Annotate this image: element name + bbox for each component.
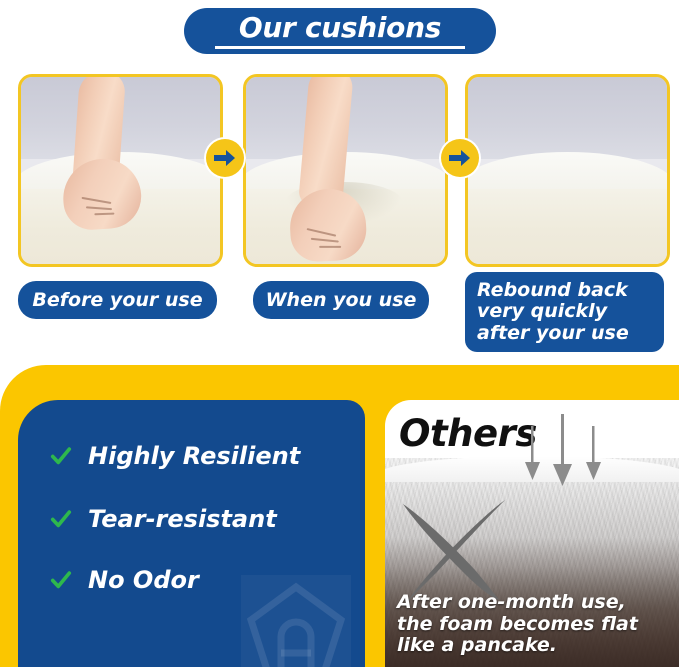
knuckle-line xyxy=(81,197,111,204)
feature-item-tear-resistant: Tear-resistant xyxy=(50,505,277,533)
arrow-down-icon xyxy=(586,426,601,480)
check-icon xyxy=(50,508,72,530)
others-caption-line-3: like a pancake. xyxy=(397,635,638,657)
arrow-down-icon xyxy=(525,426,540,480)
foam-scene-before xyxy=(21,77,220,264)
house-pentagon-logo-watermark xyxy=(241,575,351,667)
feature-label: Tear-resistant xyxy=(88,505,277,533)
check-icon xyxy=(50,445,72,467)
demo-photo-before xyxy=(18,74,223,267)
knuckle-line xyxy=(311,238,339,243)
caption-after-line-2: very quickly xyxy=(477,301,607,322)
caption-after-line-3: after your use xyxy=(477,323,629,344)
others-caption-line-2: the foam becomes flat xyxy=(397,614,638,636)
foam-scene-after xyxy=(468,77,667,264)
feature-label: Highly Resilient xyxy=(88,442,300,470)
demo-photo-after xyxy=(465,74,670,267)
check-icon xyxy=(50,569,72,591)
foam-scene-during xyxy=(246,77,445,264)
caption-during: When you use xyxy=(253,281,429,319)
arrow-right-icon xyxy=(206,139,244,177)
caption-after: Rebound back very quickly after your use xyxy=(465,272,664,352)
knuckle-line xyxy=(319,246,341,248)
caption-before: Before your use xyxy=(18,281,217,319)
arrow-right-glyph xyxy=(214,149,236,167)
background-wall xyxy=(468,77,667,159)
house-pentagon-glyph xyxy=(241,575,351,667)
features-panel: Highly Resilient Tear-resistant No Odor xyxy=(18,400,365,667)
arrow-right-glyph xyxy=(449,149,471,167)
feature-item-highly-resilient: Highly Resilient xyxy=(50,442,300,470)
page-title: Our cushions xyxy=(229,14,451,42)
downward-pressure-arrows xyxy=(515,412,610,490)
arrow-down-icon xyxy=(553,414,572,486)
others-caption: After one-month use, the foam becomes fl… xyxy=(397,592,638,657)
feature-item-no-odor: No Odor xyxy=(50,566,199,594)
foam-body xyxy=(468,189,667,264)
knuckle-line xyxy=(94,213,114,216)
others-caption-line-1: After one-month use, xyxy=(397,592,638,614)
knuckle-line xyxy=(307,228,337,237)
title-underline xyxy=(215,46,465,49)
feature-label: No Odor xyxy=(88,566,199,594)
others-comparison-panel: Others After one-month use, the foam bec… xyxy=(385,400,679,667)
page-title-badge: Our cushions xyxy=(184,8,496,54)
knuckle-line xyxy=(86,206,112,210)
demo-photo-during xyxy=(243,74,448,267)
caption-after-line-1: Rebound back xyxy=(477,280,628,301)
arrow-right-icon xyxy=(441,139,479,177)
